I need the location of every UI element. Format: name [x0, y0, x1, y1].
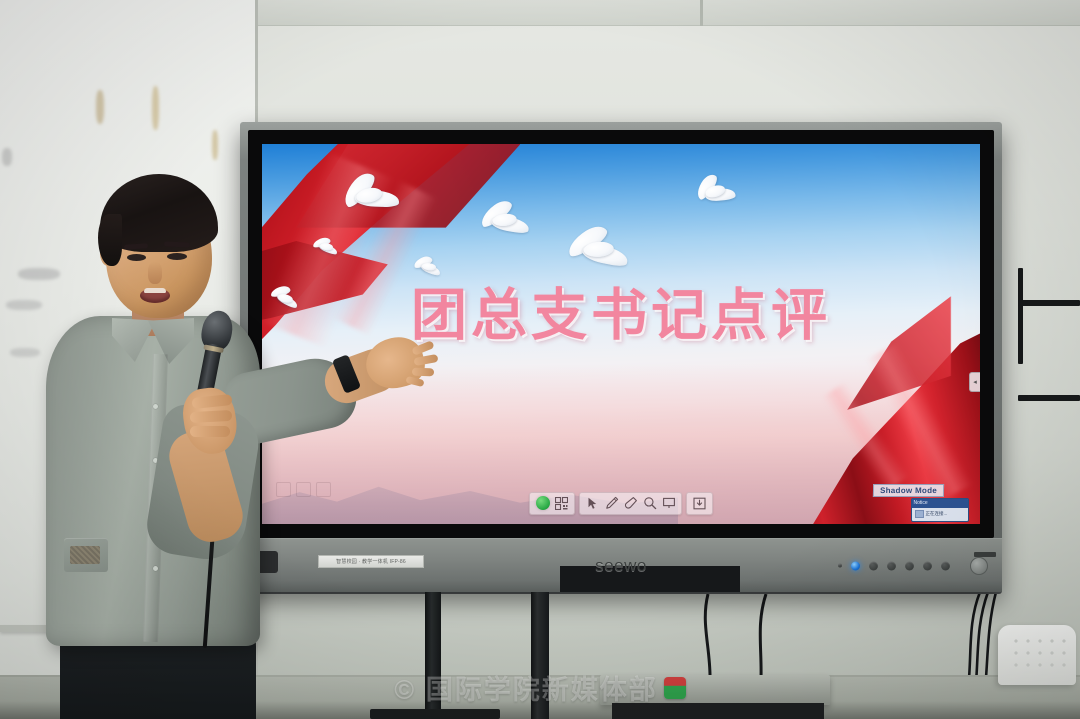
magnifier-icon[interactable] [640, 495, 659, 512]
bezel-sticker-label: 智慧校园 · 教学一体机 IFP-86 [318, 555, 424, 568]
presenter-sideburn [98, 214, 122, 266]
presenter-eye [167, 253, 187, 260]
cabinet-shadow [612, 703, 824, 719]
presenter-finger [412, 368, 434, 377]
notification-title: Notice [914, 501, 928, 506]
presenter-finger [190, 410, 233, 423]
display-inner-frame: 团总支书记点评 Shadow Mode ◂ Notice [248, 130, 994, 538]
presenter-pocket-embroidery [70, 546, 100, 564]
presenter-teeth [144, 288, 166, 293]
menu-button[interactable] [869, 561, 878, 570]
usb-port[interactable] [974, 552, 996, 557]
notification-text: 正在连接... [926, 511, 948, 517]
presenter-nose [148, 262, 162, 284]
volume-down-button[interactable] [905, 561, 914, 570]
dove-icon [476, 202, 533, 243]
screen-frame-icon[interactable] [659, 495, 678, 512]
chair [998, 625, 1076, 685]
system-notification[interactable]: Notice 正在连接... [911, 498, 969, 522]
annotation-toolbar[interactable] [529, 492, 713, 515]
power-button[interactable] [851, 561, 860, 570]
shadow-mode-watermark: Shadow Mode [873, 484, 944, 497]
slide-title: 团总支书记点评 [262, 271, 980, 352]
source-button[interactable] [887, 561, 896, 570]
scene-root: 团总支书记点评 Shadow Mode ◂ Notice [0, 0, 1080, 719]
presenter-eye [127, 254, 146, 261]
notification-body: 正在连接... [912, 508, 968, 521]
chin-recess [560, 566, 740, 592]
cabinet [600, 675, 830, 705]
toolbar-group-save[interactable] [686, 492, 713, 515]
display-button-row[interactable] [838, 561, 950, 570]
eraser-icon[interactable] [621, 495, 640, 512]
seewo-logo-icon[interactable] [533, 495, 552, 512]
wall-rail-vertical [1018, 268, 1023, 364]
presenter-shirt-button [153, 566, 158, 571]
presenter-shirt-button [153, 404, 158, 409]
speaker-grille [970, 557, 988, 575]
side-panel-handle[interactable]: ◂ [969, 372, 980, 392]
whiteboard-smudge [96, 90, 104, 124]
brand-logo: seewo [595, 556, 647, 576]
whiteboard-smudge [152, 86, 159, 130]
whiteboard-smudge [212, 130, 218, 160]
display-stand-foot [370, 709, 500, 719]
display-stand-column [425, 592, 441, 719]
wall-rail-bracket [1018, 395, 1080, 401]
display-screen[interactable]: 团总支书记点评 Shadow Mode ◂ Notice [262, 144, 980, 524]
qr-grid-icon[interactable] [552, 495, 571, 512]
volume-up-button[interactable] [923, 561, 932, 570]
notification-icon [915, 510, 924, 518]
wall-ceiling-seam [258, 0, 1080, 26]
save-icon[interactable] [690, 495, 709, 512]
chair-backrest-pattern [1010, 635, 1066, 673]
display-chin: 智慧校园 · 教学一体机 IFP-86 seewo [240, 538, 1002, 592]
pen-icon[interactable] [602, 495, 621, 512]
home-button[interactable] [941, 561, 950, 570]
notification-titlebar: Notice [912, 499, 968, 508]
whiteboard-smudge [2, 148, 12, 166]
presentation-slide[interactable]: 团总支书记点评 Shadow Mode ◂ Notice [262, 144, 980, 524]
toolbar-group-apps[interactable] [529, 492, 575, 515]
presenter [28, 168, 328, 719]
wall-panel-seam [700, 0, 703, 26]
toolbar-group-tools[interactable] [579, 492, 682, 515]
indicator-led [838, 564, 842, 568]
wall-rail-bracket [1018, 300, 1080, 306]
display-stand-column [531, 592, 549, 719]
cursor-icon[interactable] [583, 495, 602, 512]
presenter-finger [190, 426, 230, 437]
